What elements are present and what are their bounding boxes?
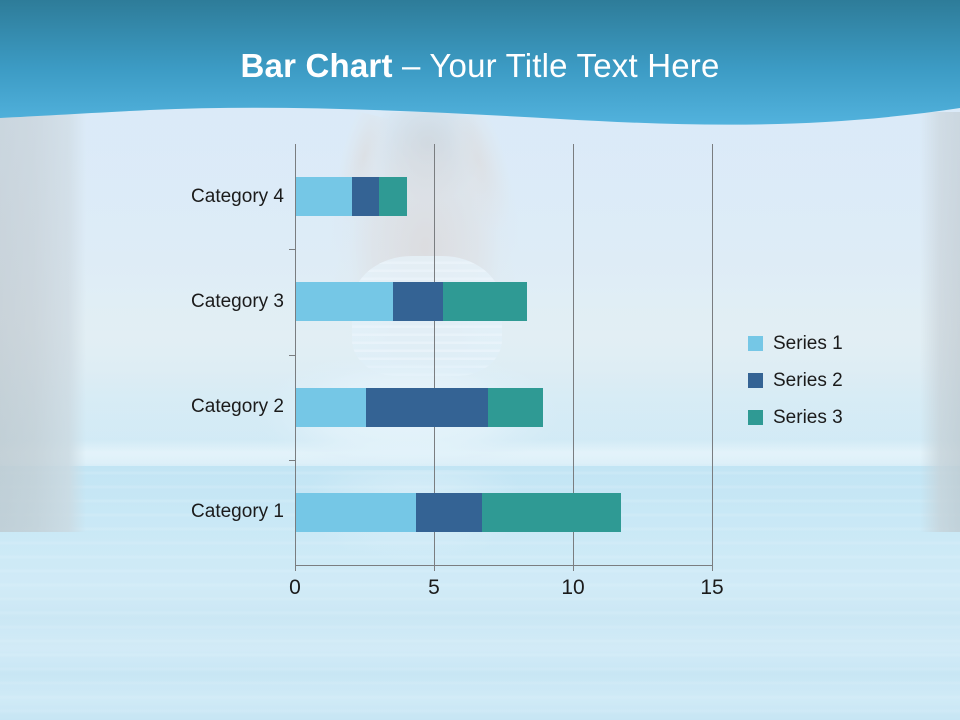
x-axis-line (295, 565, 713, 566)
category-label: Category 1 (191, 501, 284, 523)
bar-row[interactable]: Category 4 (296, 177, 407, 216)
chart-legend: Series 1Series 2Series 3 (748, 325, 918, 436)
bar-segment[interactable] (443, 282, 526, 321)
legend-swatch-icon (748, 410, 763, 425)
category-label: Category 3 (191, 291, 284, 313)
legend-item[interactable]: Series 3 (748, 399, 918, 436)
bar-segment[interactable] (296, 493, 416, 532)
x-tick-15 (712, 565, 713, 571)
y-tick-3 (289, 460, 295, 461)
bar-segment[interactable] (393, 282, 443, 321)
legend-label: Series 1 (773, 333, 843, 355)
x-tick-10 (573, 565, 574, 571)
bar-segment[interactable] (296, 282, 393, 321)
bar-segment[interactable] (379, 177, 407, 216)
bar-segment[interactable] (296, 388, 366, 427)
category-label: Category 4 (191, 186, 284, 208)
slide: Bar Chart – Your Title Text Here 051015 … (0, 0, 960, 720)
legend-label: Series 3 (773, 407, 843, 429)
category-label: Category 2 (191, 396, 284, 418)
legend-item[interactable]: Series 2 (748, 362, 918, 399)
gridline-15 (712, 144, 713, 565)
bar-segment[interactable] (352, 177, 380, 216)
legend-label: Series 2 (773, 370, 843, 392)
bar-row[interactable]: Category 1 (296, 493, 621, 532)
x-tick-label-15: 15 (700, 576, 723, 600)
legend-swatch-icon (748, 336, 763, 351)
x-tick-label-0: 0 (289, 576, 301, 600)
x-tick-label-10: 10 (561, 576, 584, 600)
y-tick-1 (289, 249, 295, 250)
bar-segment[interactable] (416, 493, 483, 532)
legend-item[interactable]: Series 1 (748, 325, 918, 362)
bar-segment[interactable] (482, 493, 621, 532)
plot-area: 051015 Category 4Category 3Category 2Cat… (295, 144, 712, 565)
x-tick-0 (295, 565, 296, 571)
y-tick-2 (289, 355, 295, 356)
x-tick-label-5: 5 (428, 576, 440, 600)
bar-row[interactable]: Category 3 (296, 282, 527, 321)
bar-segment[interactable] (366, 388, 488, 427)
bar-segment[interactable] (488, 388, 544, 427)
bar-segment[interactable] (296, 177, 352, 216)
x-tick-5 (434, 565, 435, 571)
legend-swatch-icon (748, 373, 763, 388)
bar-row[interactable]: Category 2 (296, 388, 543, 427)
